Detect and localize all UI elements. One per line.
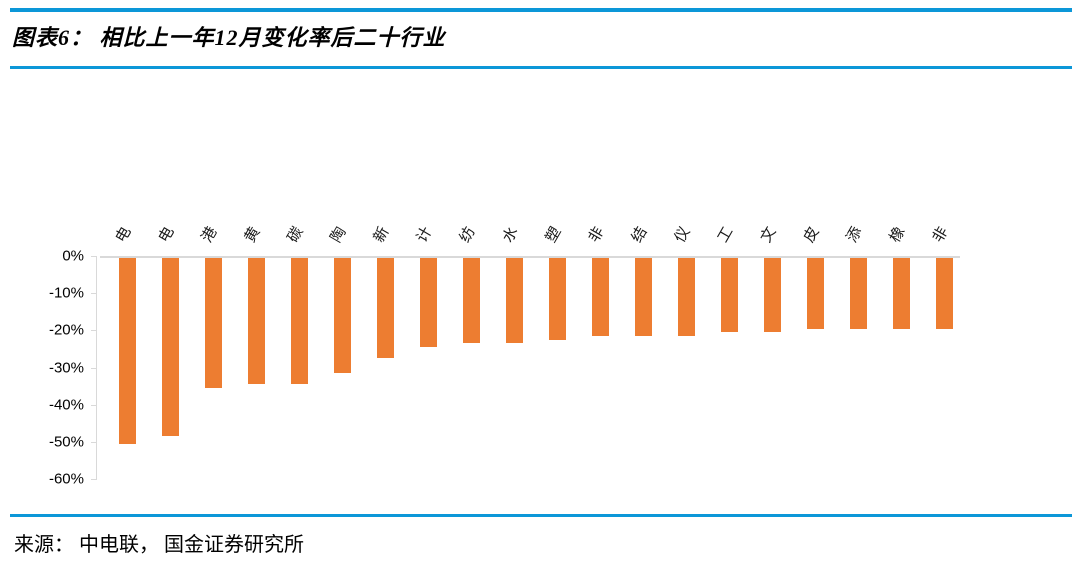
bar[interactable] <box>334 258 351 373</box>
bar[interactable] <box>936 258 953 329</box>
y-axis-tick <box>91 405 97 406</box>
x-axis-label: 纺 <box>453 222 479 246</box>
bar[interactable] <box>721 258 738 332</box>
bar[interactable] <box>807 258 824 329</box>
bar[interactable] <box>291 258 308 384</box>
bar[interactable] <box>549 258 566 340</box>
y-axis-label: -50% <box>24 433 84 450</box>
x-axis-label: 新 <box>367 222 393 246</box>
x-axis-label: 黄 <box>238 222 264 246</box>
x-axis-label: 电 <box>152 222 178 246</box>
bar-chart: 0%-10%-20%-30%-40%-50%-60%电电港黄碳陶新计纺水塑非结仪… <box>0 76 1082 506</box>
x-axis-label: 仪 <box>668 222 694 246</box>
x-axis-label: 水 <box>496 222 522 246</box>
bar[interactable] <box>420 258 437 347</box>
bar[interactable] <box>506 258 523 343</box>
x-axis-label: 港 <box>195 222 221 246</box>
bar[interactable] <box>764 258 781 332</box>
bar[interactable] <box>893 258 910 329</box>
y-axis-tick <box>91 479 97 480</box>
title-divider-rule <box>10 66 1072 69</box>
x-axis-label: 工 <box>711 222 737 246</box>
bar[interactable] <box>377 258 394 358</box>
x-axis-label: 添 <box>840 222 866 246</box>
y-axis-label: -40% <box>24 396 84 413</box>
source-note: 来源： 中电联， 国金证券研究所 <box>14 528 304 557</box>
page-title: 图表6： 相比上一年12月变化率后二十行业 <box>12 20 446 52</box>
y-axis-tick <box>91 256 97 257</box>
x-axis-label: 非 <box>582 222 608 246</box>
bar[interactable] <box>119 258 136 444</box>
y-axis-tick <box>91 293 97 294</box>
x-axis-line <box>100 256 960 258</box>
bottom-divider-rule <box>10 514 1072 517</box>
y-axis-tick <box>91 330 97 331</box>
y-axis-label: -60% <box>24 471 84 488</box>
x-axis-label: 碳 <box>281 222 307 246</box>
x-axis-label: 电 <box>109 222 135 246</box>
y-axis-label: -20% <box>24 322 84 339</box>
x-axis-label: 皮 <box>797 222 823 246</box>
bar[interactable] <box>205 258 222 388</box>
y-axis-label: -10% <box>24 285 84 302</box>
bar[interactable] <box>162 258 179 436</box>
x-axis-label: 结 <box>625 222 651 246</box>
x-axis-label: 橡 <box>883 222 909 246</box>
x-axis-label: 文 <box>754 222 780 246</box>
bar[interactable] <box>635 258 652 336</box>
bar[interactable] <box>592 258 609 336</box>
chart-plot-area: 0%-10%-20%-30%-40%-50%-60%电电港黄碳陶新计纺水塑非结仪… <box>100 256 960 479</box>
x-axis-label: 计 <box>410 222 436 246</box>
y-axis-tick <box>91 442 97 443</box>
y-axis-tick <box>91 368 97 369</box>
top-divider-rule <box>10 8 1072 12</box>
x-axis-label: 陶 <box>324 222 350 246</box>
bar[interactable] <box>850 258 867 329</box>
bar[interactable] <box>248 258 265 384</box>
x-axis-label: 塑 <box>539 222 565 246</box>
bar[interactable] <box>463 258 480 343</box>
x-axis-label: 非 <box>926 222 952 246</box>
report-figure-page: 图表6： 相比上一年12月变化率后二十行业 0%-10%-20%-30%-40%… <box>0 0 1082 572</box>
bar[interactable] <box>678 258 695 336</box>
y-axis-label: -30% <box>24 359 84 376</box>
y-axis-label: 0% <box>24 248 84 265</box>
